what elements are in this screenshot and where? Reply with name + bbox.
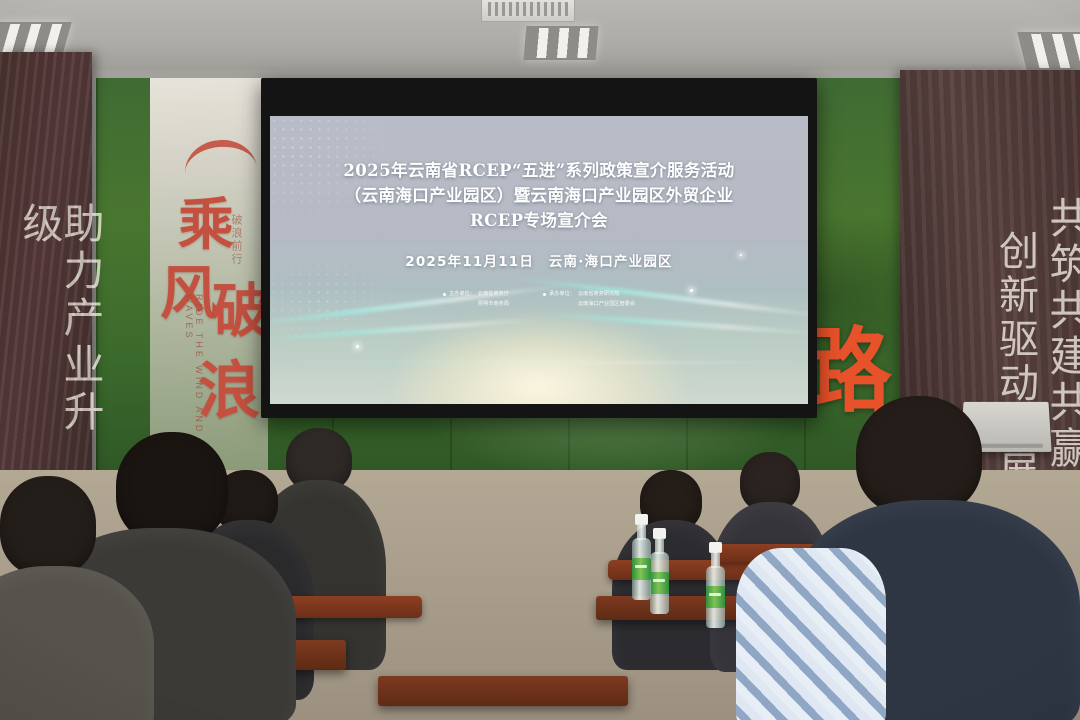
calligraphy-char: 浪 bbox=[198, 340, 260, 430]
organizer-label: 主办单位： bbox=[449, 290, 475, 300]
slide-title: 2025年云南省RCEP“五进”系列政策宣介服务活动 （云南海口产业园区）暨云南… bbox=[270, 158, 808, 233]
banner-left-text: 助力产业升级 bbox=[18, 202, 100, 482]
ceiling-vent-icon bbox=[481, 0, 575, 22]
organizer-line: 云南海口产业园区管委会 bbox=[578, 300, 635, 310]
ceiling-light-icon bbox=[1017, 32, 1080, 70]
ceiling-light-icon bbox=[524, 26, 599, 60]
slide-title-line: （云南海口产业园区）暨云南海口产业园区外贸企业 bbox=[284, 183, 794, 208]
calligraphy-seal-text: 破浪前行 bbox=[228, 214, 244, 266]
slide-content: 2025年云南省RCEP“五进”系列政策宣介服务活动 （云南海口产业园区）暨云南… bbox=[270, 116, 808, 404]
banner-left: 助力产业升级 bbox=[0, 52, 92, 482]
organizer-line: 昆明市商务局 bbox=[478, 300, 509, 310]
projection-screen-frame: 2025年云南省RCEP“五进”系列政策宣介服务活动 （云南海口产业园区）暨云南… bbox=[261, 78, 817, 418]
bullet-icon bbox=[443, 293, 446, 296]
organizer-block: 承办单位： 云南省商务研究院 云南海口产业园区管委会 bbox=[543, 290, 635, 309]
slide-title-line: 2025年云南省RCEP“五进”系列政策宣介服务活动 bbox=[284, 158, 794, 183]
organizer-label: 承办单位： bbox=[549, 290, 575, 300]
slide-title-line: RCEP专场宣介会 bbox=[284, 208, 794, 233]
organizer-block: 主办单位： 云南省商务厅 昆明市商务局 bbox=[443, 290, 509, 309]
desk bbox=[378, 676, 628, 706]
slide-organizers: 主办单位： 云南省商务厅 昆明市商务局 承办单位： 云南省商务 bbox=[270, 290, 808, 309]
organizer-line: 云南省商务研究院 bbox=[578, 290, 635, 300]
conference-room-photo: 路 助力产业升级 乘 风 破 浪 破浪前行 RIDE THE WIND AND … bbox=[0, 0, 1080, 720]
banner-calligraphy-panel: 乘 风 破 浪 破浪前行 RIDE THE WIND AND WAVES bbox=[150, 78, 268, 478]
banner-right-column-b: 共筑共建共赢 bbox=[1046, 196, 1080, 472]
ceiling bbox=[0, 0, 1080, 78]
calligraphy-char: 破 bbox=[212, 264, 268, 348]
banner-right-column-a: 创新驱动发展 bbox=[995, 230, 1035, 494]
chair bbox=[608, 560, 758, 580]
slide-date-location: 2025年11月11日 云南·海口产业园区 bbox=[270, 250, 808, 270]
bullet-icon bbox=[543, 293, 546, 296]
organizer-line: 云南省商务厅 bbox=[478, 290, 509, 300]
brush-stroke-icon bbox=[183, 137, 258, 180]
projection-screen: 2025年云南省RCEP“五进”系列政策宣介服务活动 （云南海口产业园区）暨云南… bbox=[270, 116, 808, 404]
